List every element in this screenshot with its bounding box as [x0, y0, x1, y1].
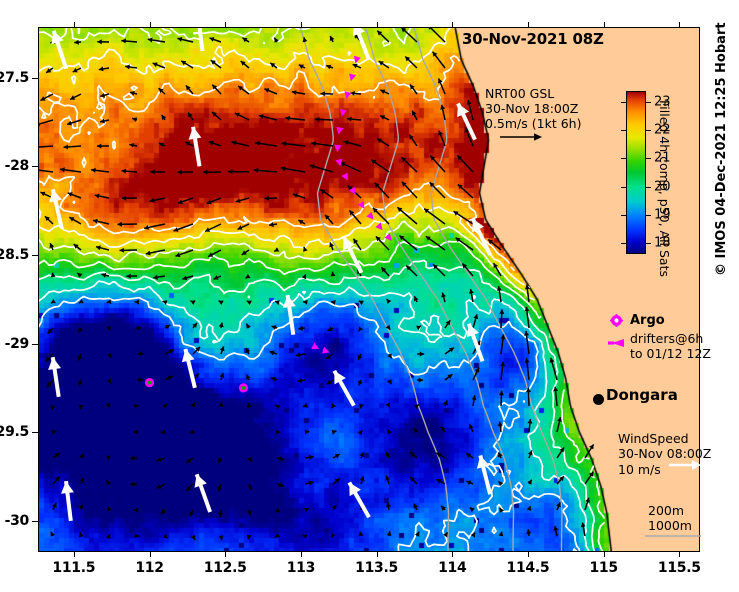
x-axis-tick-top	[301, 22, 302, 28]
x-axis-tick	[604, 551, 605, 557]
colorbar-tick-left	[621, 130, 626, 131]
dongara-city-dot-icon	[593, 394, 604, 405]
y-axis-label: -30	[5, 513, 29, 529]
y-axis-tick	[32, 166, 38, 167]
map-plot-area[interactable]	[38, 27, 700, 552]
x-axis-tick-top	[528, 22, 529, 28]
wind-legend-line1: WindSpeed	[618, 431, 689, 446]
wind-scale-arrow-icon	[668, 456, 702, 474]
x-axis-tick	[452, 551, 453, 557]
x-axis-tick	[74, 551, 75, 557]
x-axis-tick-top	[377, 22, 378, 28]
depth-legend-line1: 200m	[648, 503, 684, 518]
x-axis-tick-top	[225, 22, 226, 28]
x-axis-label: 113.5	[355, 560, 398, 576]
colorbar-tick-left	[621, 187, 626, 188]
depth-legend-line2: 1000m	[648, 518, 692, 533]
x-axis-label: 114	[438, 560, 466, 576]
drifter-legend-line1: drifters@6h	[630, 331, 703, 346]
colorbar-tick-left	[621, 102, 626, 103]
x-axis-label: 114.5	[507, 560, 550, 576]
argo-legend-label: Argo	[630, 313, 665, 328]
colorbar-gradient	[626, 91, 646, 254]
x-axis-tick-top	[150, 22, 151, 28]
y-axis-tick	[32, 432, 38, 433]
x-axis-label: 113	[287, 560, 315, 576]
y-axis-tick	[32, 255, 38, 256]
colorbar-tick	[646, 187, 651, 188]
x-axis-tick-top	[74, 22, 75, 28]
y-axis-tick	[32, 521, 38, 522]
current-legend-line1: NRT00 GSL	[485, 86, 554, 101]
colorbar-title: Filled 4h comp, p50, All Sats	[657, 100, 672, 277]
colorbar-tick-left	[621, 243, 626, 244]
x-axis-tick	[225, 551, 226, 557]
dongara-city-label: Dongara	[606, 386, 678, 404]
y-axis-tick	[32, 78, 38, 79]
y-axis-label: -29.5	[0, 424, 29, 440]
y-axis-label: -27.5	[0, 70, 29, 86]
current-legend-line3: 0.5m/s (1kt 6h)	[485, 116, 581, 131]
colorbar-tick	[646, 243, 651, 244]
y-axis-tick	[32, 344, 38, 345]
x-axis-tick	[150, 551, 151, 557]
x-axis-label: 115	[589, 560, 617, 576]
argo-float-marker-icon	[610, 314, 623, 327]
depth-legend: 200m 1000m	[648, 503, 692, 533]
x-axis-label: 111.5	[52, 560, 95, 576]
x-axis-label: 112	[135, 560, 163, 576]
wind-scale-label: 10 m/s	[618, 462, 661, 477]
x-axis-label: 115.5	[658, 560, 701, 576]
colorbar-tick	[646, 102, 651, 103]
drifter-legend-line2: to 01/12 12Z	[630, 346, 711, 361]
x-axis-tick-top	[604, 22, 605, 28]
x-axis-tick	[301, 551, 302, 557]
y-axis-label: -29	[5, 336, 29, 352]
x-axis-tick-top	[452, 22, 453, 28]
colorbar-tick-left	[621, 215, 626, 216]
x-axis-label: 112.5	[204, 560, 247, 576]
colorbar-tick-left	[621, 158, 626, 159]
current-legend: NRT00 GSL 30-Nov 18:00Z 0.5m/s (1kt 6h)	[485, 86, 581, 131]
colorbar[interactable]: 232221201918	[626, 91, 646, 254]
x-axis-tick	[377, 551, 378, 557]
drifter-legend-label: drifters@6h to 01/12 12Z	[630, 331, 711, 361]
sst-map-figure: 30-Nov-2021 08Z NRT00 GSL 30-Nov 18:00Z …	[0, 0, 739, 592]
y-axis-label: -28	[5, 158, 29, 174]
vector-overlay	[39, 28, 699, 551]
colorbar-tick	[646, 158, 651, 159]
depth-legend-line-icon	[645, 534, 701, 538]
current-legend-line2: 30-Nov 18:00Z	[485, 101, 578, 116]
current-scale-arrow-icon	[498, 130, 544, 144]
colorbar-tick	[646, 215, 651, 216]
y-axis-label: -28.5	[0, 247, 29, 263]
copyright-text: © IMOS 04-Dec-2021 12:25 Hobart	[714, 22, 729, 276]
map-title-date: 30-Nov-2021 08Z	[462, 30, 604, 48]
drifter-track-marker-icon	[608, 338, 624, 348]
x-axis-tick	[528, 551, 529, 557]
colorbar-tick	[646, 130, 651, 131]
x-axis-tick-top	[679, 22, 680, 28]
x-axis-tick	[679, 551, 680, 557]
